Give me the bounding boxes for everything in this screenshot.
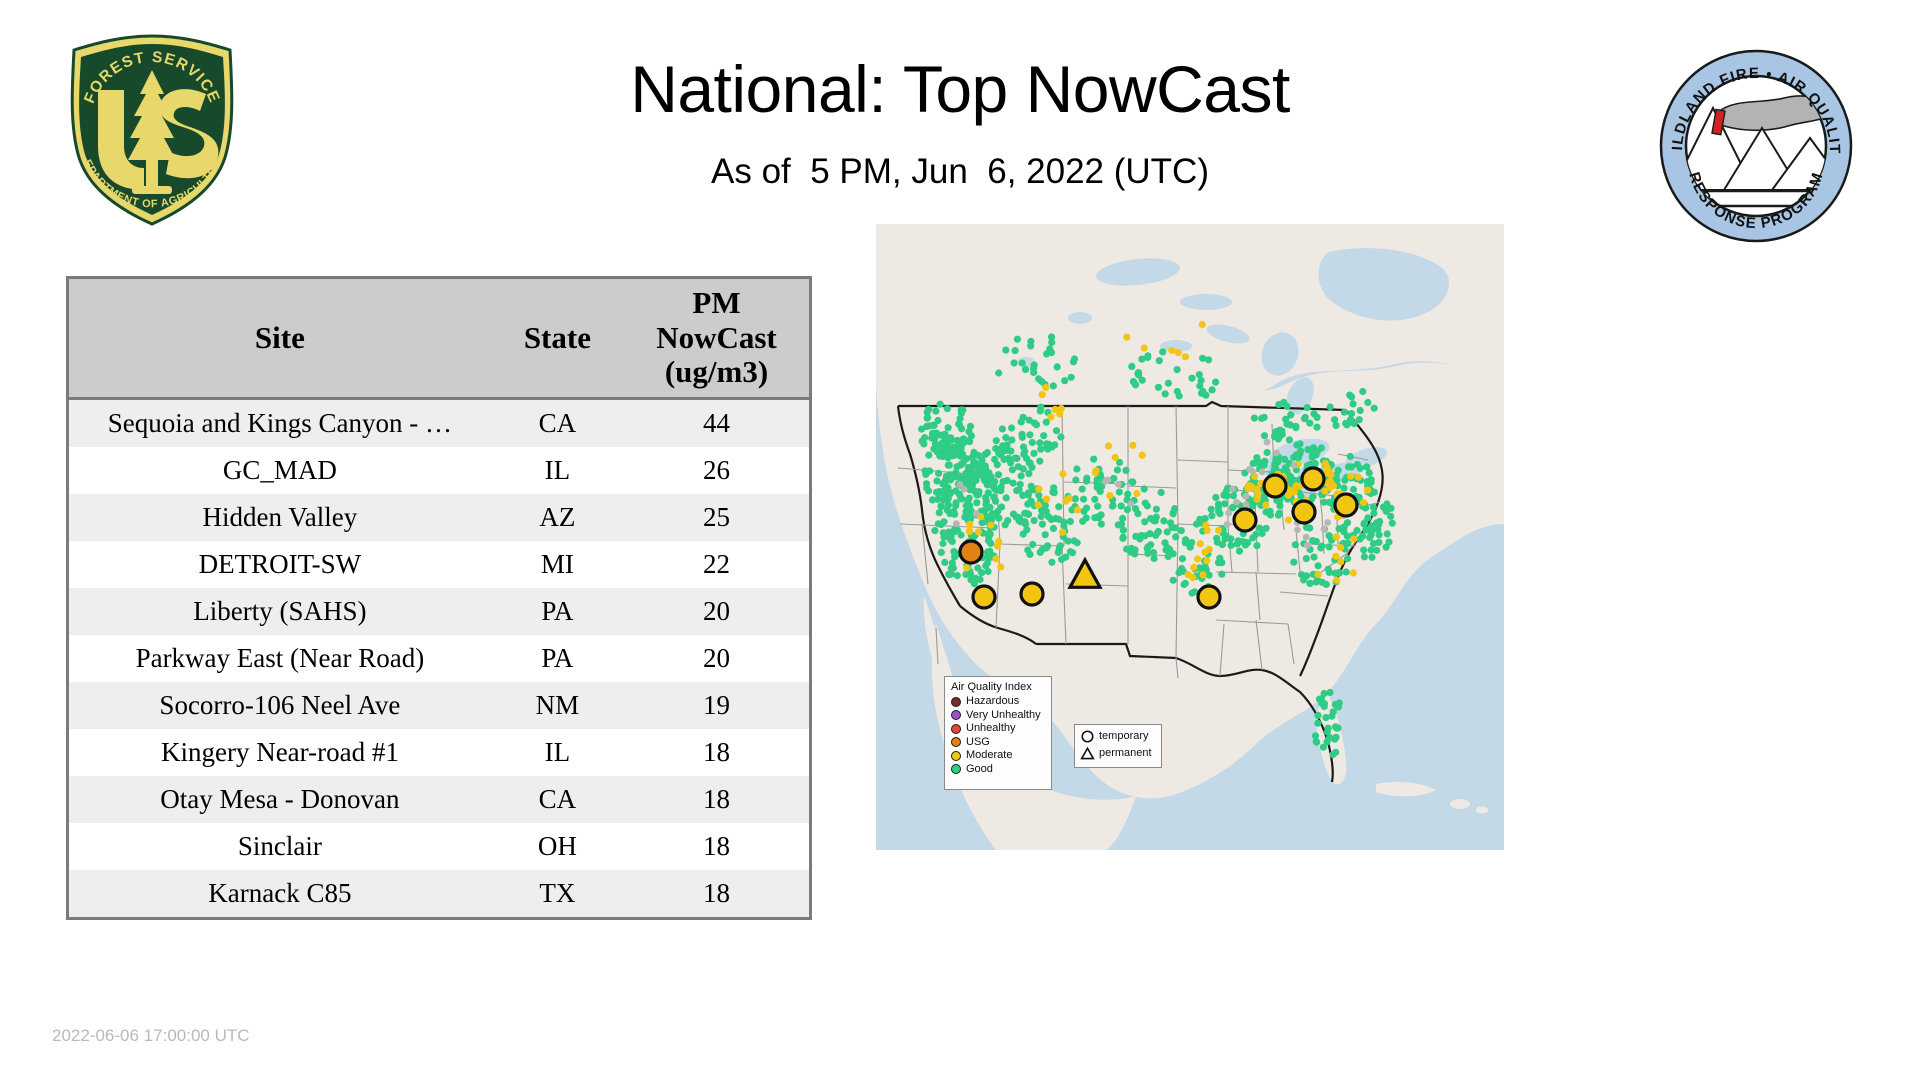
map-monitor-dot [1042, 384, 1049, 391]
map-monitor-dot [957, 415, 964, 422]
map-monitor-dot [1059, 470, 1066, 477]
map-monitor-dot [999, 425, 1006, 432]
map-monitor-dot [993, 437, 1000, 444]
map-monitor-dot [1340, 528, 1347, 535]
map-monitor-dot [1253, 542, 1260, 549]
highlighted-temporary-marker[interactable] [960, 541, 982, 563]
column-header-state: State [491, 279, 624, 399]
map-monitor-dot [1174, 366, 1181, 373]
map-monitor-dot [1332, 749, 1339, 756]
map-monitor-dot [975, 491, 982, 498]
map-monitor-dot [1199, 321, 1206, 328]
legend-swatch-icon [951, 697, 961, 707]
map-monitor-dot [987, 540, 994, 547]
state-cell: TX [491, 870, 624, 917]
site-cell: Sequoia and Kings Canyon - … [69, 399, 491, 448]
map-monitor-dot [973, 499, 980, 506]
map-monitor-dot [1218, 571, 1225, 578]
site-cell: GC_MAD [69, 447, 491, 494]
pm-nowcast-cell: 18 [624, 776, 809, 823]
map-monitor-dot [1259, 469, 1266, 476]
map-monitor-dot [1190, 564, 1197, 571]
map-monitor-dot [975, 528, 982, 535]
map-monitor-dot [982, 451, 989, 458]
map-monitor-dot [1333, 577, 1340, 584]
map-monitor-dot [1071, 355, 1078, 362]
map-monitor-dot [1038, 513, 1045, 520]
site-cell: Kingery Near-road #1 [69, 729, 491, 776]
map-monitor-dot [1067, 518, 1074, 525]
map-monitor-dot [1176, 392, 1183, 399]
state-cell: MI [491, 541, 624, 588]
map-monitor-dot [1360, 546, 1367, 553]
map-monitor-dot [1141, 345, 1148, 352]
map-monitor-dot [1364, 487, 1371, 494]
legend-label: Good [966, 764, 993, 775]
map-monitor-dot [1224, 521, 1231, 528]
map-monitor-dot [1010, 480, 1017, 487]
map-monitor-dot [1312, 732, 1319, 739]
highlighted-temporary-marker[interactable] [1021, 583, 1043, 605]
top-nowcast-table-container: Site State PM NowCast (ug/m3) Sequoia an… [66, 276, 812, 920]
table-row: Liberty (SAHS)PA20 [69, 588, 809, 635]
map-monitor-dot [1275, 401, 1282, 408]
map-monitor-dot [1215, 527, 1222, 534]
map-monitor-dot [1321, 488, 1328, 495]
map-monitor-dot [1060, 522, 1067, 529]
map-monitor-dot [1325, 566, 1332, 573]
state-cell: PA [491, 635, 624, 682]
map-monitor-dot [1030, 369, 1037, 376]
map-monitor-dot [1350, 535, 1357, 542]
map-monitor-dot [942, 441, 949, 448]
usda-forest-service-logo: FOREST SERVICE DEPARTMENT OF AGRICULTURE [52, 28, 252, 228]
pm-nowcast-cell: 20 [624, 588, 809, 635]
table-body: Sequoia and Kings Canyon - …CA44GC_MADIL… [69, 399, 809, 918]
map-monitor-dot [1287, 411, 1294, 418]
map-monitor-dot [952, 499, 959, 506]
map-monitor-dot [1040, 432, 1047, 439]
map-monitor-dot [1062, 498, 1069, 505]
map-monitor-dot [1248, 483, 1255, 490]
footer-timestamp: 2022-06-06 17:00:00 UTC [52, 1026, 250, 1046]
map-monitor-dot [1025, 492, 1032, 499]
map-monitor-dot [1313, 424, 1320, 431]
map-monitor-dot [1129, 442, 1136, 449]
map-monitor-dot [1341, 477, 1348, 484]
highlighted-temporary-marker[interactable] [1198, 586, 1220, 608]
map-monitor-dot [1153, 506, 1160, 513]
map-monitor-dot [1344, 540, 1351, 547]
map-monitor-dot [959, 406, 966, 413]
map-monitor-dot [944, 484, 951, 491]
map-monitor-dot [1050, 484, 1057, 491]
map-monitor-dot [1303, 534, 1310, 541]
map-monitor-dot [963, 455, 970, 462]
map-monitor-dot [941, 495, 948, 502]
site-cell: Sinclair [69, 823, 491, 870]
map-monitor-dot [1002, 447, 1009, 454]
map-monitor-dot [1112, 454, 1119, 461]
map-monitor-dot [1022, 366, 1029, 373]
map-monitor-dot [1368, 479, 1375, 486]
map-monitor-dot [1187, 544, 1194, 551]
map-monitor-dot [1294, 526, 1301, 533]
legend-row-permanent: permanent [1080, 745, 1156, 762]
map-monitor-dot [1074, 506, 1081, 513]
map-monitor-dot [1074, 539, 1081, 546]
highlighted-temporary-marker[interactable] [1234, 509, 1256, 531]
map-legend-air-quality-index: Air Quality Index HazardousVery Unhealth… [944, 676, 1052, 790]
map-monitor-dot [1317, 544, 1324, 551]
legend-row-usg: USG [951, 736, 1045, 750]
temporary-circle-icon [1080, 729, 1095, 744]
map-monitor-dot [935, 470, 942, 477]
map-monitor-dot [938, 503, 945, 510]
map-monitor-dot [1350, 400, 1357, 407]
map-monitor-dot [987, 531, 994, 538]
map-monitor-dot [1031, 420, 1038, 427]
map-monitor-dot [1037, 446, 1044, 453]
map-monitor-dot [933, 477, 940, 484]
map-monitor-dot [978, 569, 985, 576]
map-monitor-dot [1350, 486, 1357, 493]
map-monitor-dot [940, 533, 947, 540]
map-monitor-dot [1357, 407, 1364, 414]
map-monitor-dot [1316, 696, 1323, 703]
pm-nowcast-cell: 19 [624, 682, 809, 729]
map-monitor-dot [1114, 466, 1121, 473]
map-monitor-dot [1014, 336, 1021, 343]
map-monitor-dot [1189, 574, 1196, 581]
map-monitor-dot [1251, 415, 1258, 422]
map-monitor-dot [1387, 513, 1394, 520]
map-monitor-dot [1332, 553, 1339, 560]
map-monitor-dot [1376, 531, 1383, 538]
map-monitor-dot [1109, 503, 1116, 510]
map-monitor-dot [1326, 543, 1333, 550]
map-monitor-dot [1013, 487, 1020, 494]
map-monitor-dot [1018, 431, 1025, 438]
map-monitor-dot [1150, 517, 1157, 524]
map-monitor-dot [1080, 496, 1087, 503]
map-monitor-dot [1079, 486, 1086, 493]
map-monitor-dot [997, 563, 1004, 570]
map-monitor-dot [948, 565, 955, 572]
map-monitor-dot [1333, 422, 1340, 429]
map-monitor-dot [931, 527, 938, 534]
map-monitor-dot [1323, 581, 1330, 588]
map-monitor-dot [934, 496, 941, 503]
map-monitor-dot [1025, 511, 1032, 518]
map-monitor-dot [1375, 521, 1382, 528]
map-monitor-dot [982, 494, 989, 501]
table-row: Kingery Near-road #1IL18 [69, 729, 809, 776]
map-monitor-dot [970, 458, 977, 465]
map-monitor-dot [1115, 481, 1122, 488]
map-monitor-dot [1035, 501, 1042, 508]
map-monitor-dot [1182, 580, 1189, 587]
map-monitor-dot [1122, 467, 1129, 474]
map-monitor-dot [953, 520, 960, 527]
map-monitor-dot [1043, 496, 1050, 503]
legend-swatch-icon [951, 724, 961, 734]
pm-nowcast-cell: 18 [624, 870, 809, 917]
map-monitor-dot [950, 548, 957, 555]
map-monitor-dot [1199, 355, 1206, 362]
map-monitor-dot [1276, 502, 1283, 509]
map-monitor-dot [1361, 553, 1368, 560]
map-monitor-dot [981, 476, 988, 483]
highlighted-temporary-marker[interactable] [1335, 494, 1357, 516]
map-monitor-dot [1197, 540, 1204, 547]
pm-nowcast-cell: 22 [624, 541, 809, 588]
map-monitor-dot [1291, 462, 1298, 469]
legend-label: Unhealthy [966, 723, 1016, 734]
legend-swatch-icon [951, 737, 961, 747]
map-monitor-dot [921, 434, 928, 441]
pm-nowcast-cell: 26 [624, 447, 809, 494]
state-cell: PA [491, 588, 624, 635]
map-monitor-dot [1306, 580, 1313, 587]
map-monitor-dot [1273, 450, 1280, 457]
highlighted-temporary-marker[interactable] [1264, 475, 1286, 497]
map-monitor-dot [1090, 456, 1097, 463]
table-row: SinclairOH18 [69, 823, 809, 870]
map-monitor-dot [1118, 502, 1125, 509]
legend-swatch-icon [951, 751, 961, 761]
map-monitor-dot [1073, 465, 1080, 472]
map-monitor-dot [973, 510, 980, 517]
map-monitor-dot [1209, 386, 1216, 393]
legend-label: USG [966, 737, 990, 748]
map-monitor-dot [1045, 513, 1052, 520]
map-monitor-dot [1120, 527, 1127, 534]
map-monitor-dot [1194, 555, 1201, 562]
map-monitor-dot [1018, 472, 1025, 479]
map-monitor-dot [1263, 508, 1270, 515]
pm-nowcast-cell: 18 [624, 729, 809, 776]
map-monitor-dot [1062, 554, 1069, 561]
legend-label: Moderate [966, 750, 1012, 761]
map-monitor-dot [995, 538, 1002, 545]
map-monitor-dot [1327, 471, 1334, 478]
map-monitor-dot [1105, 477, 1112, 484]
map-monitor-dot [1115, 521, 1122, 528]
map-monitor-dot [1303, 555, 1310, 562]
map-monitor-dot [1083, 505, 1090, 512]
legend-title: Air Quality Index [951, 681, 1045, 693]
map-monitor-dot [1094, 503, 1101, 510]
map-monitor-dot [1035, 486, 1042, 493]
map-monitor-dot [1002, 434, 1009, 441]
legend-label: Hazardous [966, 696, 1019, 707]
map-monitor-dot [1213, 535, 1220, 542]
map-monitor-dot [1303, 524, 1310, 531]
pm-nowcast-cell: 18 [624, 823, 809, 870]
map-monitor-dot [1068, 374, 1075, 381]
map-monitor-dot [1261, 458, 1268, 465]
map-monitor-dot [1020, 443, 1027, 450]
map-monitor-dot [986, 548, 993, 555]
map-monitor-dot [1017, 518, 1024, 525]
map-monitor-dot [1364, 399, 1371, 406]
legend-label: Very Unhealthy [966, 710, 1041, 721]
map-monitor-dot [1162, 546, 1169, 553]
map-monitor-dot [1199, 571, 1206, 578]
map-monitor-dot [1055, 516, 1062, 523]
map-monitor-dot [1133, 490, 1140, 497]
map-monitor-dot [1105, 442, 1112, 449]
map-monitor-dot [1330, 708, 1337, 715]
map-monitor-dot [1201, 549, 1208, 556]
map-monitor-dot [1368, 554, 1375, 561]
map-monitor-dot [937, 401, 944, 408]
map-monitor-dot [1259, 530, 1266, 537]
pm-nowcast-cell: 20 [624, 635, 809, 682]
map-monitor-dot [1031, 517, 1038, 524]
table-row: DETROIT-SWMI22 [69, 541, 809, 588]
map-monitor-dot [1225, 510, 1232, 517]
map-monitor-dot [1000, 478, 1007, 485]
map-monitor-dot [1361, 519, 1368, 526]
pm-header-line-2: NowCast [656, 320, 777, 355]
map-monitor-dot [1159, 348, 1166, 355]
map-monitor-dot [1054, 363, 1061, 370]
map-monitor-dot [1320, 744, 1327, 751]
site-cell: Parkway East (Near Road) [69, 635, 491, 682]
map-monitor-dot [946, 462, 953, 469]
map-monitor-dot [957, 531, 964, 538]
map-monitor-dot [1304, 542, 1311, 549]
map-monitor-dot [1083, 514, 1090, 521]
map-monitor-dot [1370, 504, 1377, 511]
map-monitor-dot [997, 487, 1004, 494]
map-monitor-dot [1051, 441, 1058, 448]
map-monitor-dot [1285, 492, 1292, 499]
table-row: Socorro-106 Neel AveNM19 [69, 682, 809, 729]
map-monitor-dot [1179, 555, 1186, 562]
map-monitor-dot [1221, 500, 1228, 507]
map-monitor-dot [1043, 544, 1050, 551]
map-monitor-dot [1298, 571, 1305, 578]
map-monitor-dot [950, 444, 957, 451]
map-monitor-dot [1188, 375, 1195, 382]
table-row: Parkway East (Near Road)PA20 [69, 635, 809, 682]
pm-nowcast-cell: 25 [624, 494, 809, 541]
map-monitor-dot [1141, 485, 1148, 492]
map-monitor-dot [1165, 380, 1172, 387]
top-nowcast-table: Site State PM NowCast (ug/m3) Sequoia an… [69, 279, 809, 917]
map-monitor-dot [1229, 486, 1236, 493]
map-monitor-dot [1039, 521, 1046, 528]
state-cell: AZ [491, 494, 624, 541]
map-monitor-dot [1314, 720, 1321, 727]
air-quality-map-panel[interactable]: Air Quality Index HazardousVery Unhealth… [876, 224, 1504, 850]
map-monitor-dot [1048, 333, 1055, 340]
map-monitor-dot [987, 522, 994, 529]
map-monitor-dot [1150, 549, 1157, 556]
map-monitor-dot [1031, 361, 1038, 368]
map-monitor-dot [923, 480, 930, 487]
map-monitor-dot [1182, 353, 1189, 360]
map-monitor-dot [1144, 352, 1151, 359]
site-cell: Socorro-106 Neel Ave [69, 682, 491, 729]
map-monitor-dot [1324, 519, 1331, 526]
map-monitor-dot [1020, 451, 1027, 458]
table-row: Sequoia and Kings Canyon - …CA44 [69, 399, 809, 448]
legend-row-very-unhealthy: Very Unhealthy [951, 709, 1045, 723]
state-cell: OH [491, 823, 624, 870]
map-monitor-dot [1029, 541, 1036, 548]
legend-swatch-icon [951, 710, 961, 720]
map-monitor-dot [995, 369, 1002, 376]
map-monitor-dot [1015, 463, 1022, 470]
map-monitor-dot [1326, 689, 1333, 696]
pm-header-line-3: (ug/m3) [665, 354, 768, 389]
map-monitor-dot [1169, 524, 1176, 531]
map-monitor-dot [1048, 559, 1055, 566]
map-monitor-dot [1322, 714, 1329, 721]
map-monitor-dot [953, 463, 960, 470]
map-monitor-dot [1110, 475, 1117, 482]
map-monitor-dot [925, 406, 932, 413]
column-header-site: Site [69, 279, 491, 399]
map-monitor-dot [1123, 334, 1130, 341]
map-monitor-dot [1215, 504, 1222, 511]
map-monitor-dot [1261, 414, 1268, 421]
map-monitor-dot [1348, 463, 1355, 470]
site-cell: Liberty (SAHS) [69, 588, 491, 635]
map-monitor-dot [1128, 500, 1135, 507]
map-monitor-dot [922, 467, 929, 474]
table-row: Hidden ValleyAZ25 [69, 494, 809, 541]
map-monitor-dot [1347, 473, 1354, 480]
map-monitor-dot [930, 422, 937, 429]
map-monitor-dot [1091, 496, 1098, 503]
map-monitor-dot [1243, 493, 1250, 500]
legend-swatch-icon [951, 764, 961, 774]
map-monitor-dot [1304, 446, 1311, 453]
map-monitor-dot [1276, 510, 1283, 517]
map-monitor-dot [1072, 495, 1079, 502]
map-monitor-dot [944, 405, 951, 412]
map-monitor-dot [1218, 559, 1225, 566]
map-monitor-dot [1119, 535, 1126, 542]
map-monitor-dot [957, 481, 964, 488]
map-monitor-dot [969, 481, 976, 488]
map-monitor-dot [1135, 369, 1142, 376]
map-monitor-dot [1002, 347, 1009, 354]
highlighted-temporary-marker[interactable] [1293, 501, 1315, 523]
map-monitor-dot [1037, 549, 1044, 556]
map-monitor-dot [1309, 537, 1316, 544]
map-monitor-dot [1072, 476, 1079, 483]
map-monitor-dot [1333, 533, 1340, 540]
map-monitor-dot [1310, 410, 1317, 417]
map-monitor-dot [1025, 470, 1032, 477]
map-monitor-dot [1124, 491, 1131, 498]
map-monitor-dot [925, 452, 932, 459]
map-monitor-dot [1286, 436, 1293, 443]
map-monitor-dot [1124, 506, 1131, 513]
map-monitor-dot [1242, 539, 1249, 546]
highlighted-temporary-marker[interactable] [973, 586, 995, 608]
highlighted-temporary-marker[interactable] [1302, 468, 1324, 490]
map-monitor-dot [941, 434, 948, 441]
map-monitor-dot [1012, 347, 1019, 354]
map-monitor-dot [1341, 409, 1348, 416]
